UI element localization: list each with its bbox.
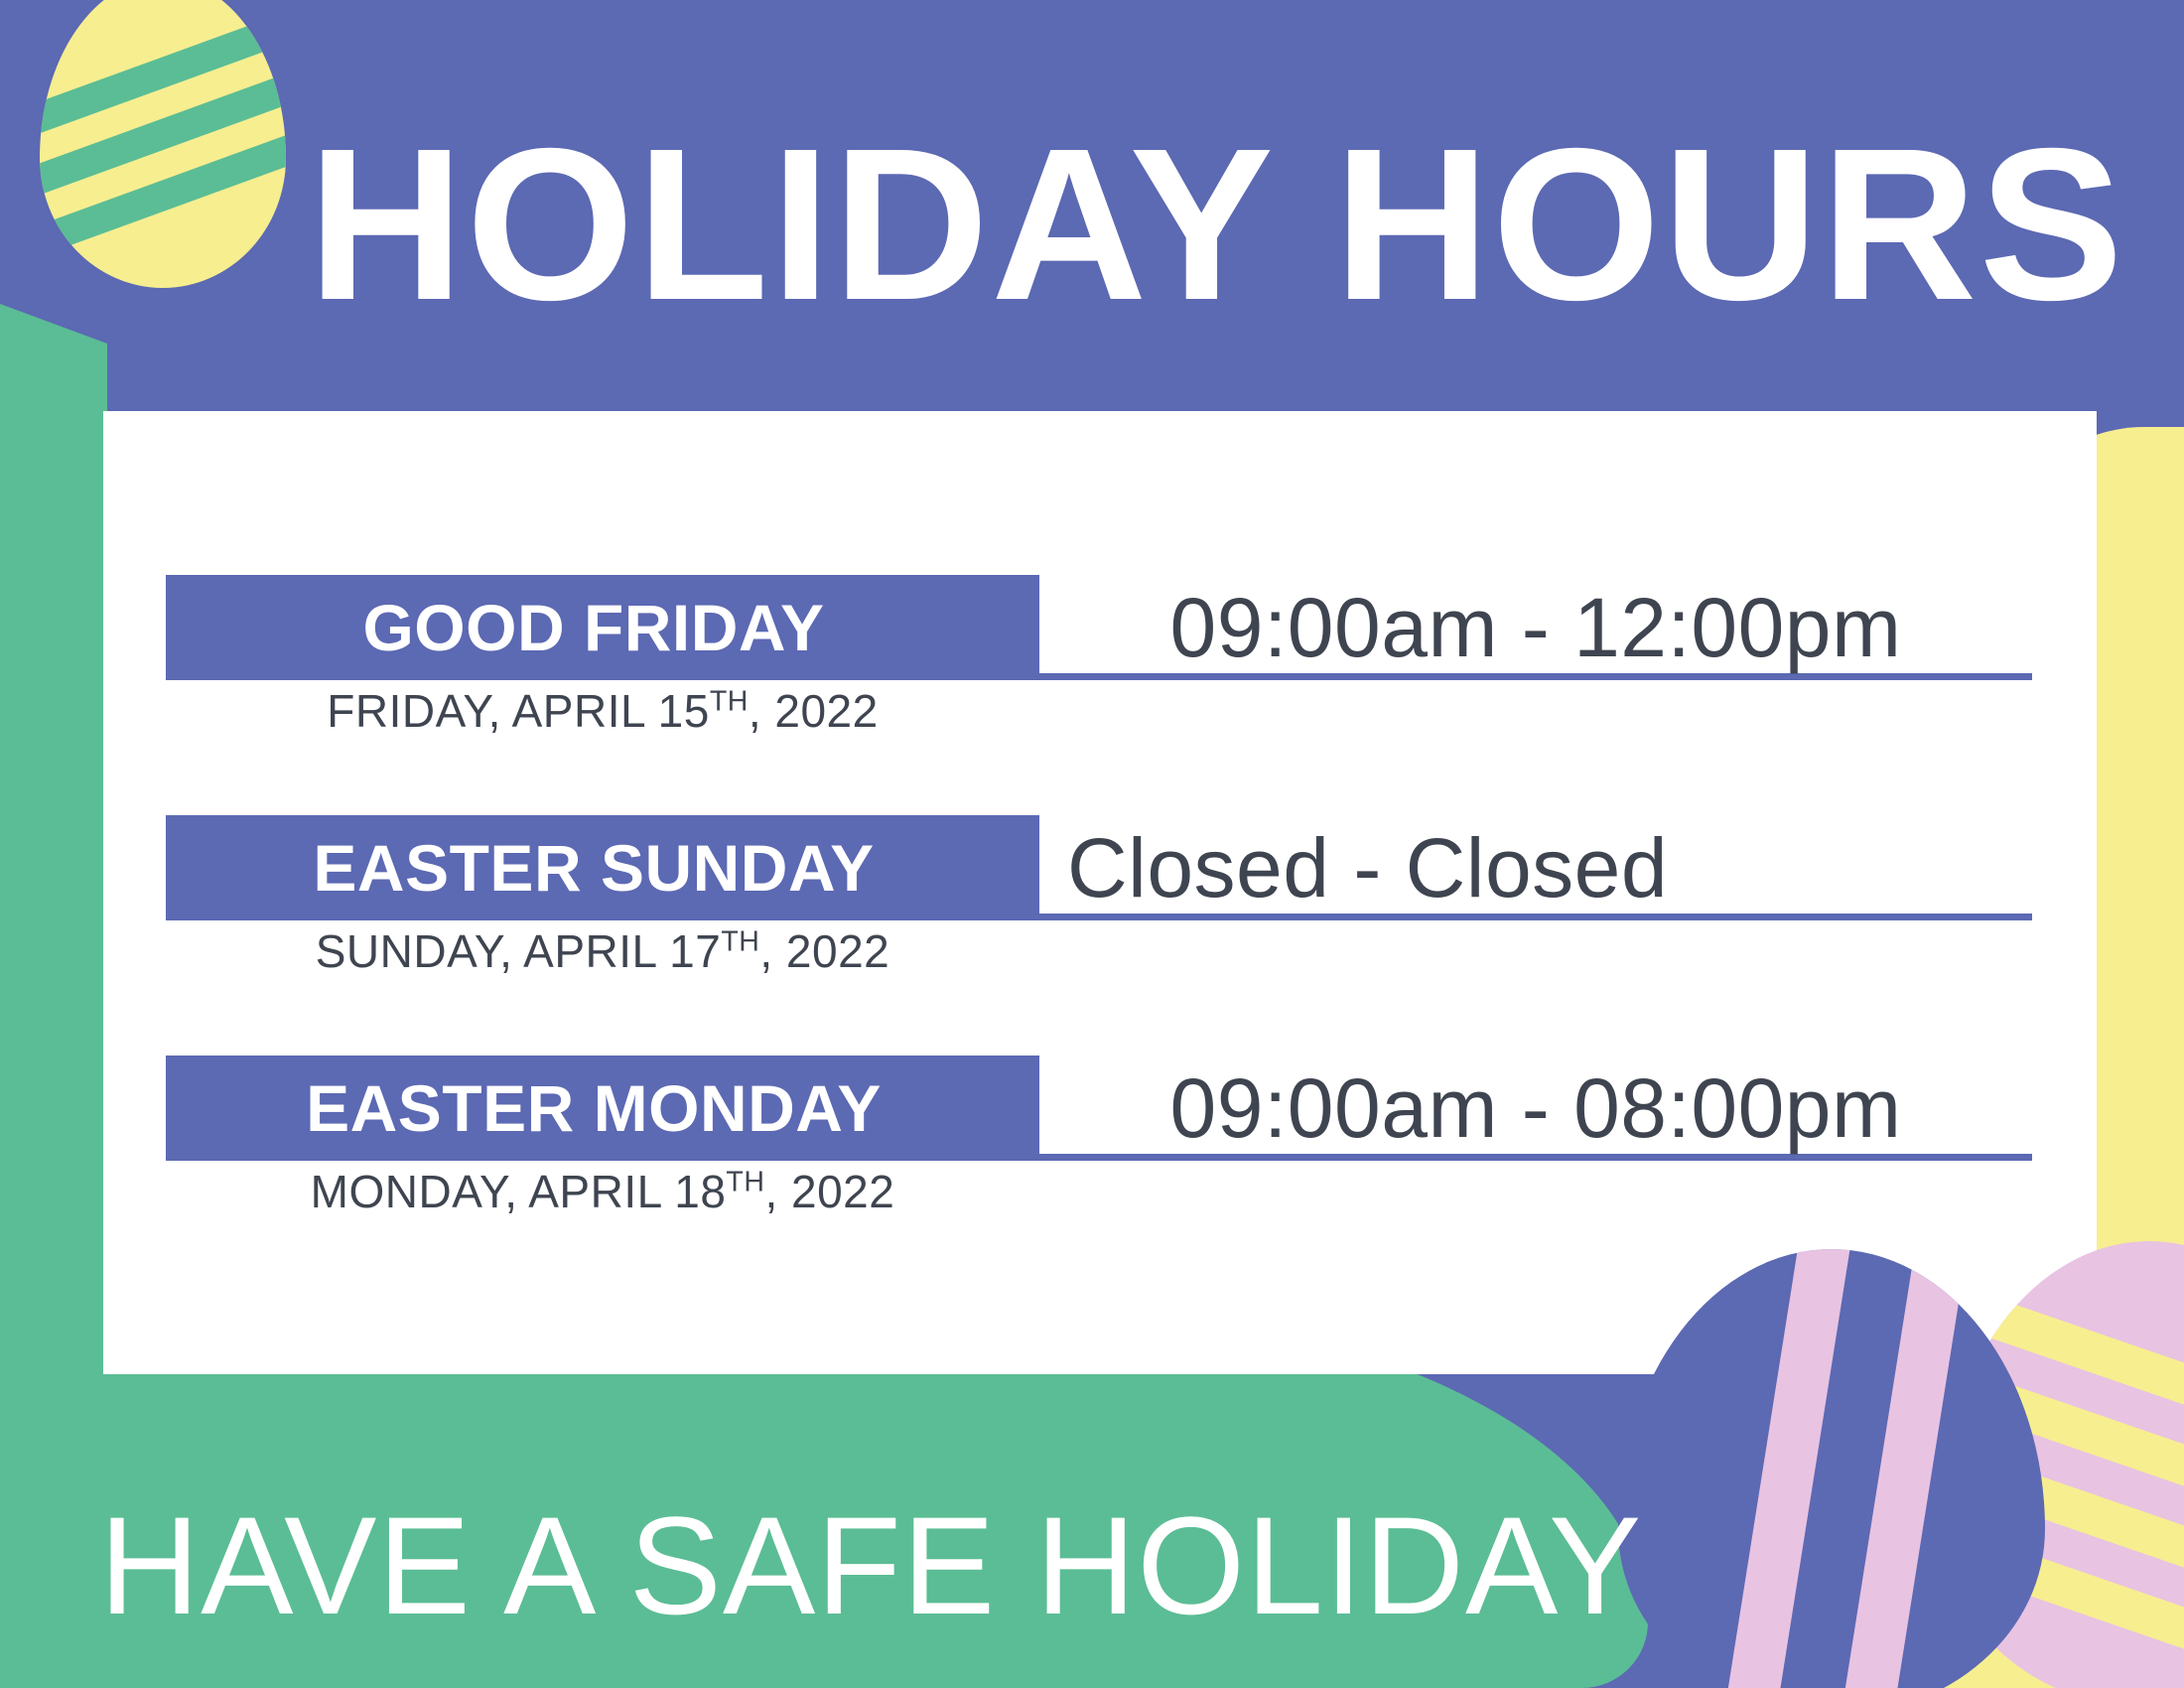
date-weekday-text: SUNDAY, APRIL 17 bbox=[316, 925, 722, 977]
holiday-name-bar: EASTER SUNDAY bbox=[166, 815, 1039, 920]
holiday-hours-label: 09:00am - 12:00pm bbox=[1170, 584, 1902, 671]
holiday-name-bar: GOOD FRIDAY bbox=[166, 575, 1039, 680]
holiday-date-label: MONDAY, APRIL 18TH, 2022 bbox=[166, 1165, 1039, 1218]
date-weekday-text: MONDAY, APRIL 18 bbox=[311, 1166, 727, 1217]
schedule-row: GOOD FRIDAY FRIDAY, APRIL 15TH, 2022 09:… bbox=[103, 575, 2097, 744]
date-ordinal-suffix: TH bbox=[726, 1167, 764, 1198]
easter-egg-icon bbox=[40, 0, 286, 288]
holiday-hours-label: 09:00am - 08:00pm bbox=[1170, 1064, 1902, 1152]
date-ordinal-suffix: TH bbox=[721, 926, 759, 958]
date-year-text: , 2022 bbox=[764, 1166, 894, 1217]
page-title: HOLIDAY HOURS bbox=[308, 117, 1995, 334]
holiday-name-label: EASTER SUNDAY bbox=[313, 830, 874, 906]
schedule-row: EASTER SUNDAY SUNDAY, APRIL 17TH, 2022 C… bbox=[103, 815, 2097, 984]
holiday-hours-cell: 09:00am - 12:00pm bbox=[1039, 575, 2032, 680]
date-ordinal-suffix: TH bbox=[710, 686, 749, 718]
date-weekday-text: FRIDAY, APRIL 15 bbox=[327, 685, 710, 737]
egg-stripe-icon bbox=[1699, 1249, 1867, 1688]
schedule-row: EASTER MONDAY MONDAY, APRIL 18TH, 2022 0… bbox=[103, 1055, 2097, 1224]
holiday-hours-poster: HOLIDAY HOURS GOOD FRIDAY FRIDAY, APRIL … bbox=[0, 0, 2184, 1688]
holiday-name-bar: EASTER MONDAY bbox=[166, 1055, 1039, 1161]
holiday-hours-cell: Closed - Closed bbox=[1039, 815, 2032, 920]
date-year-text: , 2022 bbox=[759, 925, 889, 977]
holiday-date-label: SUNDAY, APRIL 17TH, 2022 bbox=[166, 924, 1039, 978]
holiday-name-label: EASTER MONDAY bbox=[306, 1070, 882, 1146]
holiday-hours-label: Closed - Closed bbox=[1067, 824, 1668, 912]
footer-message: HAVE A SAFE HOLIDAY bbox=[99, 1485, 1642, 1646]
holiday-hours-cell: 09:00am - 08:00pm bbox=[1039, 1055, 2032, 1161]
holiday-name-label: GOOD FRIDAY bbox=[362, 590, 824, 665]
holiday-date-label: FRIDAY, APRIL 15TH, 2022 bbox=[166, 684, 1039, 738]
egg-stripe-icon bbox=[1816, 1249, 1984, 1688]
schedule-card: GOOD FRIDAY FRIDAY, APRIL 15TH, 2022 09:… bbox=[103, 411, 2097, 1374]
date-year-text: , 2022 bbox=[749, 685, 879, 737]
